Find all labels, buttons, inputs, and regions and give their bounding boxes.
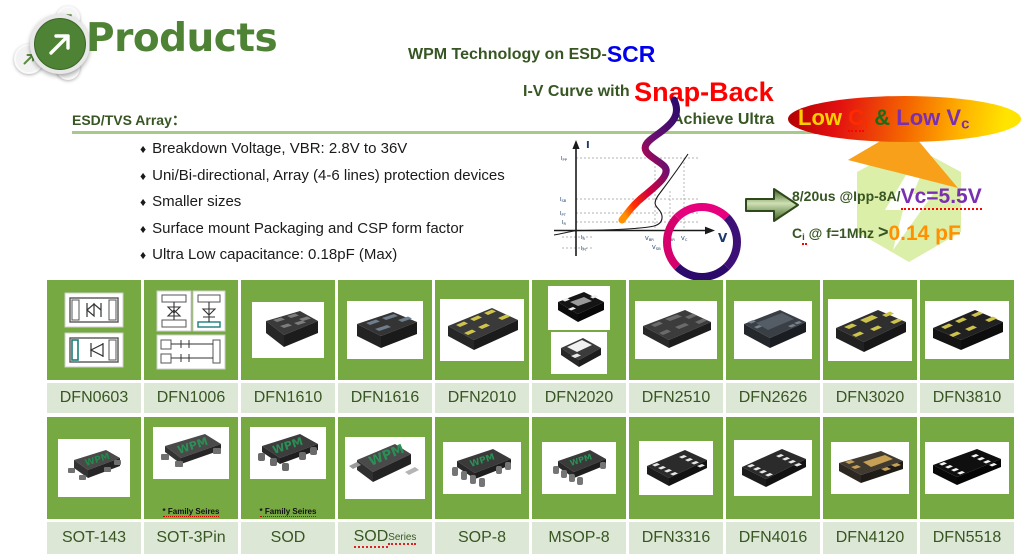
- package-dfn-icon[interactable]: [241, 280, 335, 380]
- product-label: DFN4120: [823, 522, 917, 554]
- product-cell[interactable]: DFN3316: [629, 417, 723, 554]
- product-label: SOD: [241, 522, 335, 554]
- svg-text:IR: IR: [581, 235, 586, 241]
- product-label: DFN5518: [920, 522, 1014, 554]
- list-item: ♦Breakdown Voltage, VBR: 2.8V to 36V: [140, 140, 600, 157]
- callout-vc-sub: c: [961, 116, 969, 133]
- bullet-diamond-icon: ♦: [140, 142, 146, 156]
- list-item: ♦Surface mount Packaging and CSP form fa…: [140, 220, 600, 237]
- product-cell[interactable]: DFN0603: [47, 280, 141, 413]
- product-label: DFN1006: [144, 383, 238, 413]
- package-sot-icon[interactable]: WPM * Family Seires: [144, 417, 238, 519]
- product-cell[interactable]: DFN3020: [823, 280, 917, 413]
- arrow-up-right-circle-icon: [30, 14, 90, 74]
- svg-text:IPP: IPP: [561, 156, 568, 162]
- product-cell[interactable]: DFN4120: [823, 417, 917, 554]
- svg-text:IPT: IPT: [560, 211, 567, 217]
- spec-line-vclamp: 8/20us @Ipp-8A/Vc=5.5V: [792, 185, 982, 209]
- bullet-list: ♦Breakdown Voltage, VBR: 2.8V to 36V ♦Un…: [140, 140, 600, 273]
- package-msop-icon[interactable]: WPM: [532, 417, 626, 519]
- callout-text: Low Ci & Low Vc: [798, 105, 1021, 133]
- bullet-diamond-icon: ♦: [140, 248, 146, 262]
- bullet-diamond-icon: ♦: [140, 169, 146, 183]
- package-sop-icon[interactable]: WPM: [435, 417, 529, 519]
- product-cell[interactable]: DFN2010: [435, 280, 529, 413]
- heading-scr-accent: SCR: [607, 41, 656, 67]
- list-item: ♦Ultra Low capacitance: 0.18pF (Max): [140, 246, 600, 263]
- product-grid-row-2: WPM SOT-143 WPM: [47, 417, 1014, 554]
- product-cell[interactable]: DFN2626: [726, 280, 820, 413]
- product-label: DFN2020: [532, 383, 626, 413]
- product-label: DFN3316: [629, 522, 723, 554]
- package-sot-icon[interactable]: WPM: [47, 417, 141, 519]
- schematic-diode-icon[interactable]: [47, 280, 141, 380]
- logo: [8, 6, 94, 78]
- package-dfn-icon[interactable]: [823, 280, 917, 380]
- package-sod-icon[interactable]: WPM: [338, 417, 432, 519]
- list-item-label: Ultra Low capacitance: 0.18pF (Max): [152, 246, 397, 263]
- callout-ci: C: [848, 105, 864, 132]
- package-dfn-icon[interactable]: [435, 280, 529, 380]
- list-item: ♦Smaller sizes: [140, 193, 600, 210]
- product-cell[interactable]: DFN1006: [144, 280, 238, 413]
- svg-text:IR: IR: [562, 220, 567, 226]
- product-label: DFN2510: [629, 383, 723, 413]
- spec-ci-gt: >: [878, 222, 889, 242]
- product-label: DFN3810: [920, 383, 1014, 413]
- product-label: DFN2010: [435, 383, 529, 413]
- product-cell[interactable]: DFN5518: [920, 417, 1014, 554]
- package-dfn-icon[interactable]: [629, 280, 723, 380]
- svg-text:VBR: VBR: [645, 236, 654, 242]
- product-cell[interactable]: WPM * Family Seires SOT-3Pin: [144, 417, 238, 554]
- product-cell[interactable]: DFN3810: [920, 280, 1014, 413]
- callout-low1: Low: [798, 105, 848, 130]
- product-label: DFN2626: [726, 383, 820, 413]
- product-cell[interactable]: WPM SODSeries: [338, 417, 432, 554]
- product-cell[interactable]: WPM SOP-8: [435, 417, 529, 554]
- heading-wpm-technology: WPM Technology on ESD-SCR: [408, 41, 655, 68]
- package-dfn-leaded-icon[interactable]: [726, 417, 820, 519]
- page-title: Products: [86, 16, 277, 61]
- section-label-esd-tvs-array: ESD/TVS Array：: [72, 110, 186, 130]
- product-cell[interactable]: DFN2020: [532, 280, 626, 413]
- heading-wpm-prefix: WPM Technology on ESD-: [408, 46, 607, 63]
- product-cell[interactable]: DFN4016: [726, 417, 820, 554]
- product-label: SODSeries: [338, 522, 432, 554]
- spec-line-capacitance: Ci @ f=1Mhz >0.14 pF: [792, 222, 961, 246]
- package-sot-icon[interactable]: WPM * Family Seires: [241, 417, 335, 519]
- product-cell[interactable]: DFN2510: [629, 280, 723, 413]
- product-label: MSOP-8: [532, 522, 626, 554]
- product-label: DFN1610: [241, 383, 335, 413]
- spec-ci-mid: @ f=1Mhz: [805, 225, 878, 241]
- bullet-diamond-icon: ♦: [140, 195, 146, 209]
- product-label-main: SOD: [354, 528, 389, 548]
- callout-vc: V: [946, 105, 961, 130]
- product-label: DFN4016: [726, 522, 820, 554]
- list-item-label: Uni/Bi-directional, Array (4-6 lines) pr…: [152, 167, 505, 184]
- product-grid-row-1: DFN0603 DFN1006: [47, 280, 1014, 413]
- package-dfn-icon[interactable]: [920, 280, 1014, 380]
- page-header: Products: [0, 0, 1021, 80]
- product-cell[interactable]: WPM MSOP-8: [532, 417, 626, 554]
- schematic-array-icon[interactable]: [144, 280, 238, 380]
- product-label: SOP-8: [435, 522, 529, 554]
- svg-text:IPT: IPT: [581, 246, 588, 252]
- list-item-label: Breakdown Voltage, VBR: 2.8V to 36V: [152, 140, 407, 157]
- package-dfn-icon[interactable]: [338, 280, 432, 380]
- snapback-highlight-ring: [663, 203, 741, 281]
- product-cell[interactable]: WPM SOT-143: [47, 417, 141, 554]
- bullet-diamond-icon: ♦: [140, 222, 146, 236]
- package-dfn-leaded-icon[interactable]: [629, 417, 723, 519]
- product-label: DFN0603: [47, 383, 141, 413]
- svg-text:I: I: [586, 140, 590, 151]
- callout-low2: Low: [896, 105, 946, 130]
- list-item-label: Surface mount Packaging and CSP form fac…: [152, 220, 464, 237]
- list-item: ♦Uni/Bi-directional, Array (4-6 lines) p…: [140, 167, 600, 184]
- package-dfn-pad-icon[interactable]: [823, 417, 917, 519]
- svg-text:VSB: VSB: [652, 245, 661, 251]
- product-cell[interactable]: DFN1616: [338, 280, 432, 413]
- spec-vclamp-value: Vc=5.5V: [901, 185, 982, 210]
- spec-ci-prefix: C: [792, 225, 802, 241]
- product-label: SOT-143: [47, 522, 141, 554]
- package-dfn-leaded-icon[interactable]: [920, 417, 1014, 519]
- callout-ampersand: &: [868, 105, 896, 130]
- product-label: SOT-3Pin: [144, 522, 238, 554]
- product-cell[interactable]: DFN1610: [241, 280, 335, 413]
- spec-ci-value: 0.14 pF: [888, 222, 960, 245]
- product-cell[interactable]: WPM * Family Seires SOD: [241, 417, 335, 554]
- product-label: DFN1616: [338, 383, 432, 413]
- package-dfn-icon[interactable]: [726, 280, 820, 380]
- list-item-label: Smaller sizes: [152, 193, 241, 210]
- callout-banner: Low Ci & Low Vc: [788, 96, 1021, 142]
- family-series-note: * Family Seires: [144, 507, 238, 516]
- spec-vclamp-prefix: 8/20us @Ipp-8A/: [792, 188, 901, 204]
- product-label-sub: Series: [388, 532, 416, 545]
- svg-text:ISB: ISB: [560, 197, 567, 203]
- package-dfn-dual-icon[interactable]: [532, 280, 626, 380]
- product-label: DFN3020: [823, 383, 917, 413]
- family-series-note: * Family Seires: [241, 507, 335, 516]
